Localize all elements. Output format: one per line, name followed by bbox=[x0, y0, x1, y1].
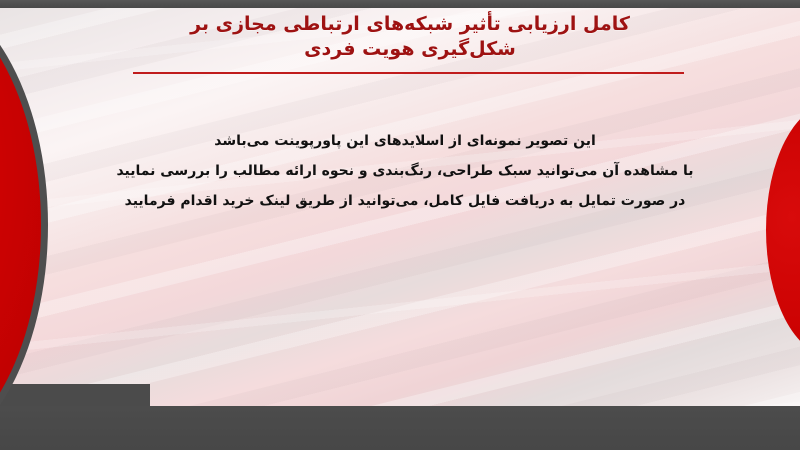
slide-title: کامل ارزیابی تأثیر شبکه‌های ارتباطی مجاز… bbox=[120, 12, 700, 62]
body-line-1: این تصویر نمونه‌ای از اسلایدهای این پاور… bbox=[60, 126, 750, 156]
title-underline-rule bbox=[133, 72, 684, 74]
title-line-1: کامل ارزیابی تأثیر شبکه‌های ارتباطی مجاز… bbox=[120, 12, 700, 37]
title-line-2: شکل‌گیری هویت فردی bbox=[120, 37, 700, 62]
slide-canvas: کامل ارزیابی تأثیر شبکه‌های ارتباطی مجاز… bbox=[0, 0, 800, 450]
body-line-2: با مشاهده آن می‌توانید سبک طراحی، رنگ‌بن… bbox=[60, 156, 750, 186]
body-line-3: در صورت تمایل به دریافت فایل کامل، می‌تو… bbox=[60, 186, 750, 216]
frame-bottom-band bbox=[0, 406, 800, 450]
slide-body-text: این تصویر نمونه‌ای از اسلایدهای این پاور… bbox=[60, 126, 750, 216]
frame-top-band bbox=[0, 0, 800, 8]
